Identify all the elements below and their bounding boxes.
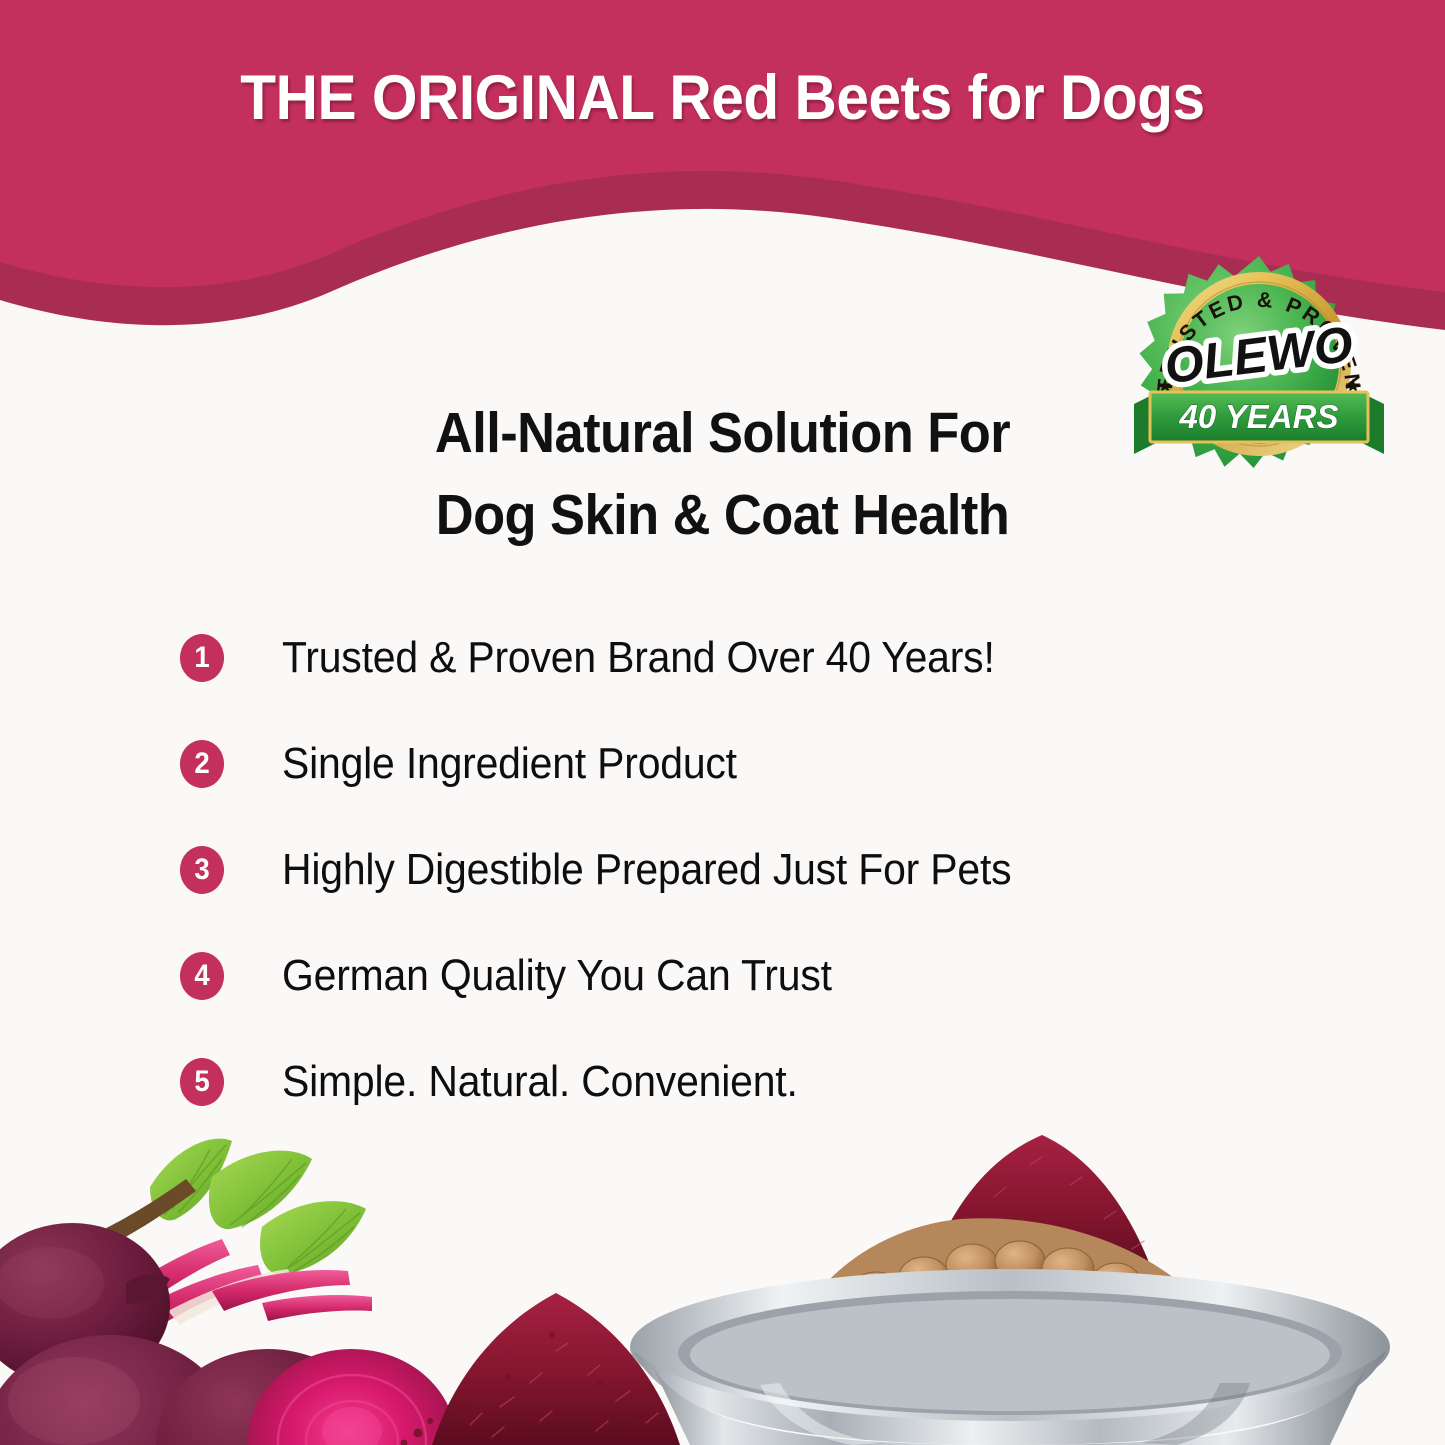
seal-ribbon-text: 40 YEARS <box>1179 398 1339 435</box>
feature-label: Trusted & Proven Brand Over 40 Years! <box>282 633 995 683</box>
feature-label: Highly Digestible Prepared Just For Pets <box>282 845 1011 895</box>
feature-number-badge: 4 <box>180 952 224 1000</box>
whole-red-beets-with-greens <box>0 1139 456 1445</box>
list-item: 3 Highly Digestible Prepared Just For Pe… <box>178 844 1298 896</box>
list-item: 4 German Quality You Can Trust <box>178 950 1298 1002</box>
feature-list: 1 Trusted & Proven Brand Over 40 Years! … <box>178 632 1298 1162</box>
feature-number-badge: 1 <box>180 634 224 682</box>
list-item: 2 Single Ingredient Product <box>178 738 1298 790</box>
list-item: 5 Simple. Natural. Convenient. <box>178 1056 1298 1108</box>
list-item: 1 Trusted & Proven Brand Over 40 Years! <box>178 632 1298 684</box>
feature-number-badge: 2 <box>180 740 224 788</box>
product-imagery <box>0 1115 1445 1445</box>
feature-number-badge: 3 <box>180 846 224 894</box>
steel-dog-bowl-with-kibble-and-beet-flakes <box>630 1135 1390 1445</box>
feature-label: German Quality You Can Trust <box>282 951 832 1001</box>
trusted-proven-seal-badge: TRUSTED & PROVEN ★ ★ OLEWO OLEWO 40 YEAR… <box>1128 252 1390 510</box>
page-title: THE ORIGINAL Red Beets for Dogs <box>51 62 1395 134</box>
header-wave-main <box>0 0 1445 292</box>
feature-label: Single Ingredient Product <box>282 739 737 789</box>
feature-label: Simple. Natural. Convenient. <box>282 1057 798 1107</box>
feature-number-badge: 5 <box>180 1058 224 1106</box>
